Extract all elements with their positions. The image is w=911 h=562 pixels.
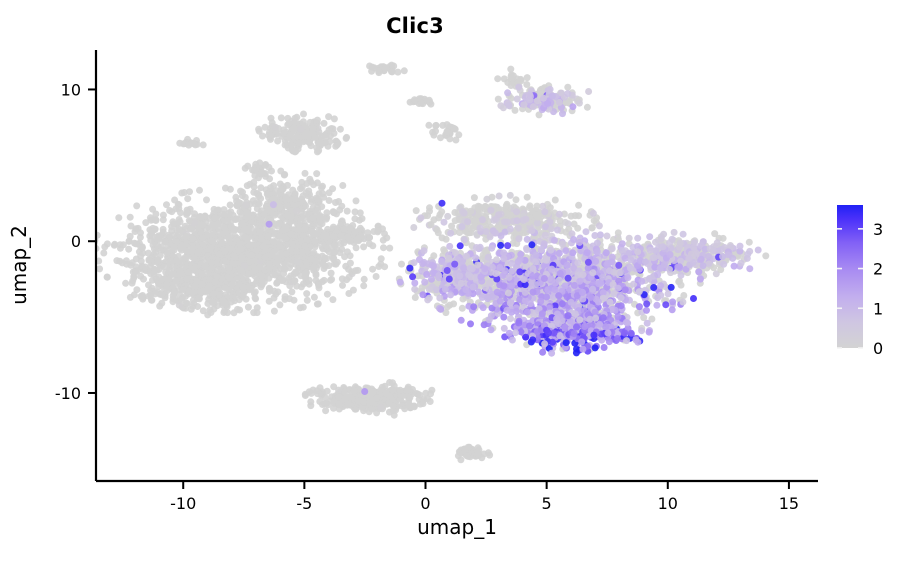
scatter-point [314,196,321,203]
scatter-point [338,246,345,253]
scatter-point [746,239,753,246]
scatter-point [238,246,245,253]
scatter-point [373,409,380,416]
scatter-point [160,216,167,223]
scatter-point [562,247,569,254]
scatter-point [444,213,451,220]
scatter-point [282,266,289,273]
scatter-point [564,84,571,91]
scatter-point [329,185,336,192]
scatter-point [264,191,271,198]
scatter-point [330,208,337,215]
scatter-point [172,277,179,284]
scatter-point [335,393,342,400]
scatter-point [188,140,195,147]
scatter-point [603,249,610,256]
scatter-point [194,249,201,256]
scatter-point [316,140,323,147]
scatter-point [291,277,298,284]
scatter-point [496,193,503,200]
scatter-point [194,303,201,310]
scatter-point [457,456,464,463]
scatter-point [210,290,217,297]
scatter-point [356,217,363,224]
scatter-point [320,233,327,240]
scatter-point [219,239,226,246]
scatter-point [588,225,595,232]
scatter-point [542,232,549,239]
scatter-point [463,452,470,459]
scatter-point [251,266,258,273]
scatter-point [229,281,236,288]
scatter-point [695,268,702,275]
scatter-point [412,294,419,301]
scatter-point [186,217,193,224]
scatter-point [284,182,291,189]
scatter-point [375,68,382,75]
scatter-point [404,385,411,392]
scatter-point [297,217,304,224]
scatter-point [250,189,257,196]
scatter-point [386,245,393,252]
scatter-point [215,220,222,227]
scatter-point [311,238,318,245]
scatter-point [354,237,361,244]
scatter-point [267,184,274,191]
scatter-point [313,170,320,177]
scatter-point [347,393,354,400]
scatter-point [96,265,103,272]
scatter-point [287,231,294,238]
scatter-point [488,245,495,252]
scatter-point [364,229,371,236]
scatter-point [552,197,559,204]
scatter-point [166,207,173,214]
scatter-point [608,258,615,265]
scatter-point [273,280,280,287]
scatter-point [206,225,213,232]
scatter-point [226,264,233,271]
scatter-point [277,204,284,211]
scatter-point [181,254,188,261]
scatter-point [115,214,122,221]
scatter-point [183,233,190,240]
scatter-point [568,213,575,220]
scatter-point [360,282,367,289]
scatter-point [386,379,393,386]
scatter-point [158,243,165,250]
scatter-point [418,100,425,107]
scatter-point [466,224,473,231]
scatter-point [282,142,289,149]
scatter-point [262,162,269,169]
scatter-point [444,121,451,128]
scatter-point [589,286,596,293]
scatter-point [313,258,320,265]
scatter-point [127,294,134,301]
scatter-point [255,126,262,133]
scatter-point [241,234,248,241]
scatter-point [369,266,376,273]
scatter-point [459,305,466,312]
scatter-point [430,252,437,259]
scatter-point [171,197,178,204]
scatter-point [373,273,380,280]
scatter-point [508,260,515,267]
scatter-point [252,294,259,301]
scatter-point [503,201,510,208]
scatter-point [390,402,397,409]
scatter-point [300,111,307,118]
scatter-point [208,259,215,266]
scatter-point [389,68,396,75]
scatter-point [183,276,190,283]
scatter-point [332,143,339,150]
scatter-point [242,165,249,172]
scatter-point [430,216,437,223]
scatter-point [127,214,134,221]
scatter-point [485,254,492,261]
scatter-point [320,260,327,267]
scatter-point [450,300,457,307]
scatter-point [284,212,291,219]
scatter-point [500,314,507,321]
scatter-point [264,233,271,240]
scatter-point [140,276,147,283]
scatter-point [292,268,299,275]
scatter-point [301,226,308,233]
scatter-point [184,210,191,217]
scatter-point [147,270,154,277]
scatter-point [369,64,376,71]
scatter-point [318,203,325,210]
scatter-point [274,269,281,276]
scatter-point [326,138,333,145]
scatter-point [271,308,278,315]
scatter-point [142,219,149,226]
scatter-point [227,245,234,252]
scatter-point [156,235,163,242]
scatter-point [183,300,190,307]
scatter-point [513,196,520,203]
scatter-point [383,390,390,397]
scatter-point [170,220,177,227]
scatter-point [591,232,598,239]
scatter-point [252,280,259,287]
scatter-point [351,387,358,394]
scatter-point [100,250,107,257]
scatter-point [336,406,343,413]
scatter-point [547,247,554,254]
scatter-point [523,246,530,253]
scatter-point [609,245,616,252]
scatter-point [239,254,246,261]
scatter-point [350,287,357,294]
scatter-point [163,281,170,288]
scatter-point [461,446,468,453]
scatter-point [345,266,352,273]
scatter-point [337,126,344,133]
scatter-point [467,320,474,327]
scatter-point [186,188,193,195]
scatter-point [332,242,339,249]
scatter-point [347,260,354,267]
scatter-point [216,251,223,258]
scatter-point [440,246,447,253]
scatter-point [145,250,152,257]
scatter-point [257,184,264,191]
scatter-point [132,240,139,247]
scatter-point [288,288,295,295]
scatter-point [199,214,206,221]
scatter-point [156,303,163,310]
scatter-point [152,217,159,224]
scatter-point [584,104,591,111]
scatter-point [133,202,140,209]
scatter-point [574,225,581,232]
scatter-point [669,298,676,305]
scatter-point [643,300,650,307]
scatter-point [452,126,459,133]
scatter-point [127,233,134,240]
scatter-point [657,292,664,299]
scatter-point [227,186,234,193]
scatter-point [636,303,643,310]
scatter-point [203,196,210,203]
scatter-point [272,291,279,298]
scatter-point [196,295,203,302]
scatter-point [116,258,123,265]
scatter-point [467,208,474,215]
scatter-point [264,206,271,213]
scatter-point [383,234,390,241]
scatter-point [444,303,451,310]
scatter-point [227,202,234,209]
scatter-point [233,275,240,282]
scatter-point [170,298,177,305]
scatter-point [529,265,536,272]
scatter-point [575,212,582,219]
scatter-point [352,267,359,274]
scatter-point [301,243,308,250]
scatter-point [254,205,261,212]
scatter-point [624,274,631,281]
scatter-point [149,277,156,284]
scatter-point [321,120,328,127]
scatter-point [310,265,317,272]
scatter-point [325,401,332,408]
scatter-point [344,208,351,215]
scatter-point [224,217,231,224]
scatter-point [142,264,149,271]
scatter-point [171,243,178,250]
scatter-point [259,278,266,285]
scatter-point [235,199,242,206]
scatter-point [303,290,310,297]
scatter-point [189,235,196,242]
scatter-point [524,236,531,243]
scatter-point [331,115,338,122]
scatter-point [343,135,350,142]
scatter-point [636,288,643,295]
scatter-point [311,230,318,237]
scatter-point [209,238,216,245]
scatter-point [300,118,307,125]
scatter-point [133,256,140,263]
scatter-point [177,209,184,216]
scatter-point [292,196,299,203]
scatter-point [128,223,135,230]
scatter-point [282,293,289,300]
scatter-point [198,271,205,278]
scatter-point [262,254,269,261]
scatter-point [330,256,337,263]
scatter-point [212,215,219,222]
scatter-point [245,226,252,233]
scatter-point [377,261,384,268]
scatter-point [222,300,229,307]
scatter-point [234,306,241,313]
scatter-point [167,258,174,265]
scatter-point [123,261,130,268]
scatter-point [351,228,358,235]
scatter-point [302,203,309,210]
scatter-point [329,296,336,303]
scatter-point [266,298,273,305]
scatter-point [228,299,235,306]
scatter-point [149,206,156,213]
scatter-point [574,259,581,266]
scatter-point [208,244,215,251]
scatter-point [557,217,564,224]
scatter-point [495,96,502,103]
scatter-point [276,243,283,250]
scatter-point [443,128,450,135]
scatter-point [266,221,273,228]
scatter-point [185,269,192,276]
scatter-point [353,244,360,251]
scatter-point [266,286,273,293]
scatter-point [191,255,198,262]
scatter-point [366,240,373,247]
scatter-point [200,141,207,148]
scatter-point [293,248,300,255]
scatter-point [332,199,339,206]
scatter-point [276,301,283,308]
scatter-point [524,194,531,201]
scatter-point [284,202,291,209]
scatter-point [361,276,368,283]
scatter-point [274,254,281,261]
scatter-point [323,209,330,216]
scatter-point [575,202,582,209]
scatter-point [435,229,442,236]
scatter-point [443,236,450,243]
scatter-point [312,134,319,141]
scatter-point [401,405,408,412]
scatter-point [248,252,255,259]
scatter-point [135,225,142,232]
scatter-point [302,270,309,277]
umap-feature-plot: Clic3 -10-5051015 -10010 umap_1 um [0,0,911,562]
scatter-point [389,386,396,393]
scatter-point [280,227,287,234]
scatter-point [524,74,531,81]
scatter-point [101,243,108,250]
scatter-point [507,66,514,73]
scatter-point [240,292,247,299]
scatter-point [303,180,310,187]
scatter-point [213,273,220,280]
scatter-point [210,299,217,306]
scatter-point [250,197,257,204]
scatter-point [184,195,191,202]
scatter-point [252,161,259,168]
scatter-point [375,227,382,234]
scatter-point [398,261,405,268]
scatter-point [177,218,184,225]
scatter-point [410,224,417,231]
scatter-point [424,212,431,219]
scatter-point [646,233,653,240]
scatter-point [297,126,304,133]
scatter-point [230,226,237,233]
scatter-point [234,215,241,222]
scatter-point [266,260,273,267]
scatter-point [326,126,333,133]
scatter-point [170,292,177,299]
scatter-point [638,278,645,285]
scatter-point [94,232,101,239]
scatter-point [360,398,367,405]
scatter-point [254,304,261,311]
scatter-point [310,215,317,222]
scatter-point [104,274,111,281]
scatter-point [436,295,443,302]
scatter-point [576,100,583,107]
scatter-point [380,244,387,251]
scatter-point [662,301,669,308]
scatter-point [594,240,601,247]
scatter-point [220,211,227,218]
scatter-point [653,302,660,309]
scatter-point [278,114,285,121]
scatter-point [508,282,515,289]
scatter-point [669,306,676,313]
scatter-point [313,272,320,279]
scatter-point [448,223,455,230]
scatter-point [596,222,603,229]
plot-canvas: -10-5051015 -10010 umap_1 umap_2 0123 [0,0,911,562]
scatter-point [258,170,265,177]
scatter-point [322,407,329,414]
scatter-point [308,390,315,397]
scatter-point [257,228,264,235]
scatter-point [643,307,650,314]
scatter-point [245,304,252,311]
scatter-point [678,282,685,289]
scatter-point [523,81,530,88]
scatter-point [288,261,295,268]
scatter-point [618,302,625,309]
scatter-point [497,242,504,249]
scatter-point [272,124,279,131]
scatter-point [397,387,404,394]
scatter-point [446,135,453,142]
scatter-point [162,269,169,276]
scatter-point [471,194,478,201]
scatter-point [245,271,252,278]
